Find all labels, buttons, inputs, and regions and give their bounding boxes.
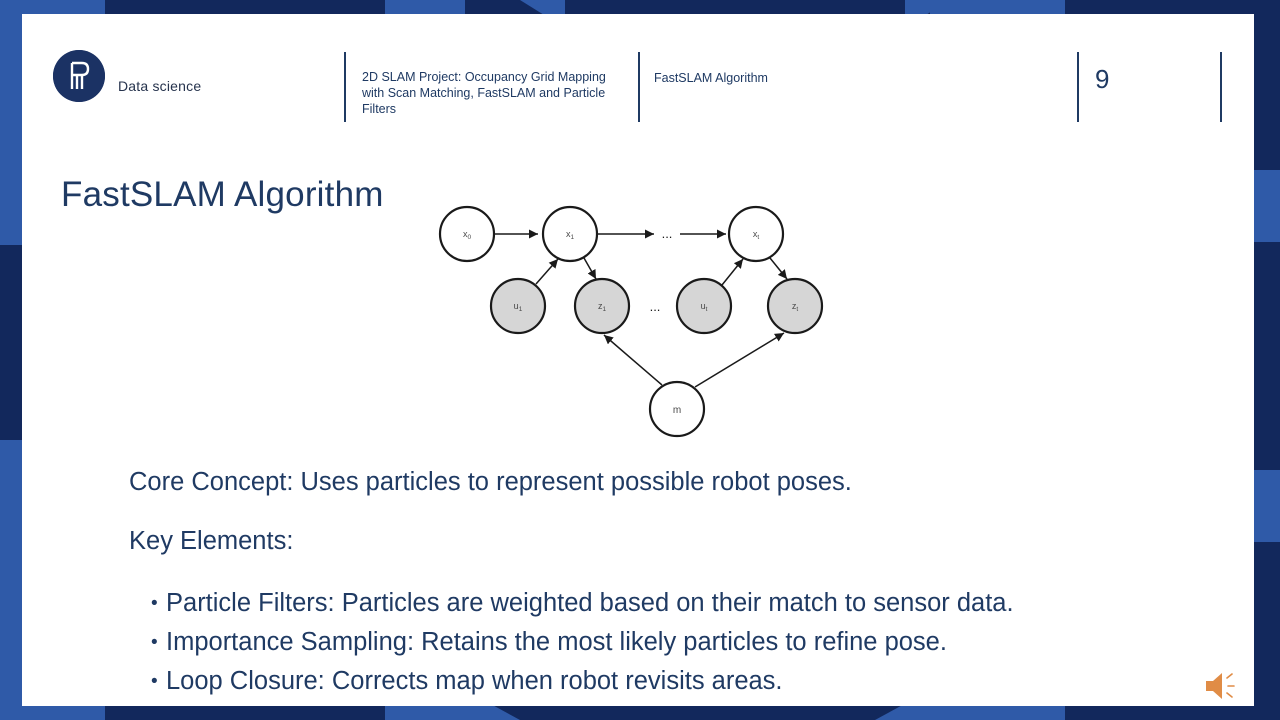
header-divider-3 xyxy=(1077,52,1079,122)
list-item: • Importance Sampling: Retains the most … xyxy=(129,623,1189,662)
bullet-marker-icon: • xyxy=(151,584,158,623)
ellipsis-mid: ... xyxy=(650,299,661,314)
header-divider-2 xyxy=(638,52,640,122)
section-label: FastSLAM Algorithm xyxy=(654,71,768,85)
page-number: 9 xyxy=(1095,64,1109,95)
ellipsis-top: ... xyxy=(662,226,673,241)
edge-x1-z1 xyxy=(584,258,596,279)
header-divider-1 xyxy=(344,52,346,122)
edge-ut-xt xyxy=(722,259,743,285)
slide-title: FastSLAM Algorithm xyxy=(61,175,384,215)
list-item-label: Importance Sampling: Retains the most li… xyxy=(166,628,947,656)
bullet-marker-icon: • xyxy=(151,662,158,701)
edge-xt-zt xyxy=(770,258,787,279)
fastslam-graphical-model-diagram: x0 x1 xt u1 z1 ut zt m ... ... xyxy=(412,189,852,459)
edge-m-zt xyxy=(695,333,784,387)
key-elements-list: • Particle Filters: Particles are weight… xyxy=(129,584,1189,701)
slide-canvas: Data science 2D SLAM Project: Occupancy … xyxy=(0,0,1280,720)
project-title: 2D SLAM Project: Occupancy Grid Mapping … xyxy=(362,69,622,118)
edge-m-z1 xyxy=(604,335,662,385)
left-border-accent xyxy=(0,245,22,440)
list-item: • Loop Closure: Corrects map when robot … xyxy=(129,662,1189,701)
brand-label: Data science xyxy=(118,78,201,94)
key-elements-heading: Key Elements: xyxy=(129,524,1189,558)
slide-page: Data science 2D SLAM Project: Occupancy … xyxy=(22,14,1254,706)
core-concept-text: Core Concept: Uses particles to represen… xyxy=(129,465,1189,499)
list-item: • Particle Filters: Particles are weight… xyxy=(129,584,1189,623)
list-item-label: Loop Closure: Corrects map when robot re… xyxy=(166,667,783,695)
slide-body: Core Concept: Uses particles to represen… xyxy=(129,439,1189,701)
monogram-logo-icon xyxy=(53,50,105,102)
header-divider-4 xyxy=(1220,52,1222,122)
speaker-audio-icon[interactable] xyxy=(1202,669,1238,708)
edge-u1-x1 xyxy=(536,259,558,284)
list-item-label: Particle Filters: Particles are weighted… xyxy=(166,589,1014,617)
bullet-marker-icon: • xyxy=(151,623,158,662)
node-label-m: m xyxy=(673,405,681,416)
